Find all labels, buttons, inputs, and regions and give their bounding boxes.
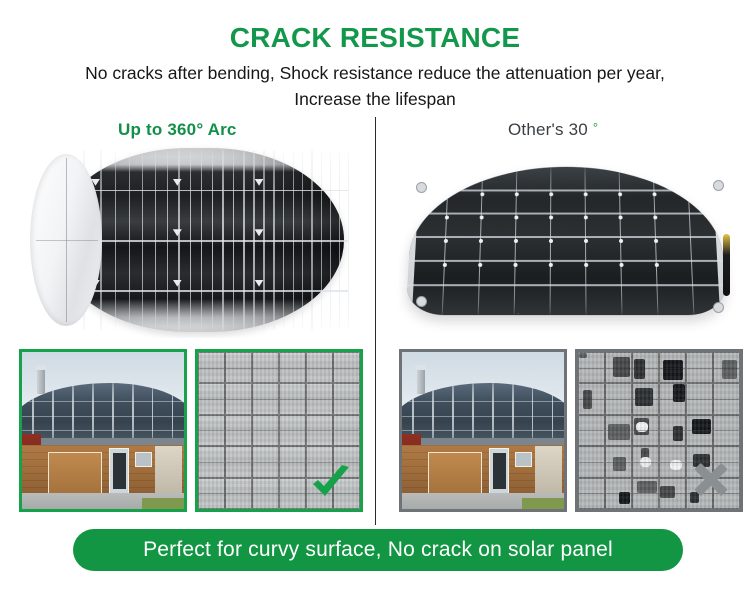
header: CRACK RESISTANCE No cracks after bending… bbox=[0, 0, 750, 112]
roof-photo bbox=[22, 352, 184, 509]
bottom-banner-text: Perfect for curvy surface, No crack on s… bbox=[143, 538, 613, 562]
porch-area bbox=[535, 446, 563, 495]
chimney bbox=[37, 368, 45, 395]
right-column-label: Other's 30 ° bbox=[508, 120, 598, 140]
window bbox=[135, 452, 152, 467]
curved-panel-illustration bbox=[398, 138, 738, 338]
grommet-icon bbox=[416, 182, 427, 193]
page-subtitle: No cracks after bending, Shock resistanc… bbox=[25, 61, 725, 112]
column-divider bbox=[375, 117, 376, 525]
thumbnail-el-pass bbox=[195, 349, 363, 512]
panel-open-edge bbox=[30, 154, 102, 326]
panel-output-cable bbox=[723, 234, 730, 296]
check-mark-icon bbox=[309, 463, 353, 503]
rolled-panel-illustration bbox=[24, 144, 354, 336]
bottom-banner: Perfect for curvy surface, No crack on s… bbox=[73, 529, 683, 571]
left-column-label: Up to 360° Arc bbox=[118, 120, 237, 140]
hero-image-right bbox=[398, 138, 738, 338]
grass-patch bbox=[522, 498, 564, 509]
thumbnail-roof-fail bbox=[399, 349, 567, 512]
page-title: CRACK RESISTANCE bbox=[0, 22, 750, 54]
subtitle-line-1: No cracks after bending, Shock resistanc… bbox=[85, 63, 665, 83]
grommet-icon bbox=[713, 302, 724, 313]
entry-door bbox=[489, 448, 509, 499]
window bbox=[515, 452, 532, 467]
panel-arc-body bbox=[406, 167, 727, 315]
garage-door bbox=[48, 452, 102, 496]
garage-door bbox=[428, 452, 482, 496]
grass-patch bbox=[142, 498, 184, 509]
porch-area bbox=[155, 446, 183, 495]
grommet-icon bbox=[416, 296, 427, 307]
chimney bbox=[417, 368, 425, 395]
right-column-label-text: Other's 30 bbox=[508, 120, 588, 139]
hero-image-left bbox=[18, 138, 358, 338]
entry-door bbox=[109, 448, 129, 499]
thumbnail-roof-pass bbox=[19, 349, 187, 512]
degree-symbol-icon: ° bbox=[593, 120, 598, 135]
thumbnail-el-fail bbox=[575, 349, 743, 512]
grommet-icon bbox=[713, 180, 724, 191]
subtitle-line-2: Increase the lifespan bbox=[294, 89, 456, 109]
roof-photo bbox=[402, 352, 564, 509]
x-mark-icon bbox=[691, 459, 731, 499]
